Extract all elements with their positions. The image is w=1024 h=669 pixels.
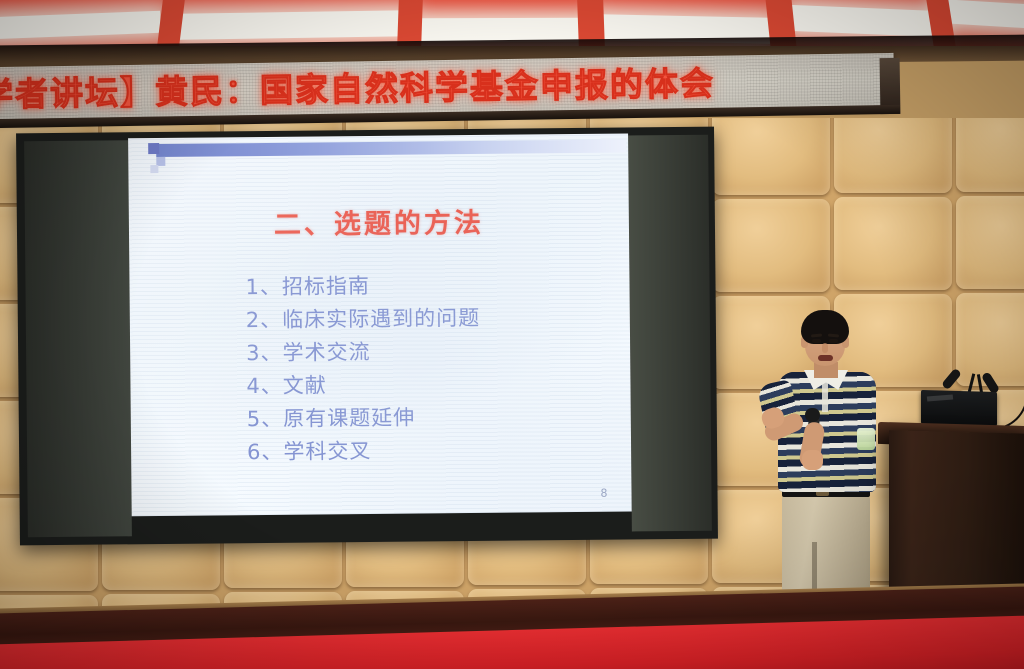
wall-acoustic-panel <box>956 293 1024 386</box>
screen-left-margin <box>24 140 132 537</box>
slide-bullet-item: 5、原有课题延伸 <box>247 400 627 437</box>
slide-decoration-square <box>150 165 158 173</box>
slide-bullet-item: 2、临床实际遇到的问题 <box>246 301 626 338</box>
slide-bullet-list: 1、招标指南2、临床实际遇到的问题3、学术交流4、文献5、原有课题延伸6、学科交… <box>245 268 627 470</box>
slide-bullet-item: 3、学术交流 <box>246 334 626 371</box>
wall-acoustic-panel <box>834 197 952 290</box>
screen-right-margin <box>628 135 712 532</box>
wall-acoustic-panel <box>834 118 952 193</box>
ceiling-beam <box>397 0 423 46</box>
speaker-hand-right <box>802 450 823 470</box>
speaker-badge <box>857 428 875 450</box>
handheld-microphone-head-icon <box>805 408 820 422</box>
ceiling-light-panel <box>940 0 1024 29</box>
laptop-icon <box>921 390 997 426</box>
wall-acoustic-panel <box>712 118 830 195</box>
ceiling-light-panel <box>0 11 160 40</box>
ceiling-light-panel <box>790 5 940 37</box>
speaker-nose <box>822 343 828 353</box>
wall-acoustic-panel <box>956 118 1024 192</box>
slide-bullet-item: 6、学科交叉 <box>247 433 627 470</box>
presentation-slide: 二、选题的方法 1、招标指南2、临床实际遇到的问题3、学术交流4、文献5、原有课… <box>128 133 632 516</box>
speaker-shirt-placket <box>822 382 828 412</box>
slide-bullet-item: 1、招标指南 <box>245 268 625 305</box>
wall-acoustic-panel <box>712 199 830 292</box>
ceiling-light-panel <box>178 10 408 40</box>
slide-page-number: 8 <box>600 487 607 500</box>
laptop-screen-glare <box>927 394 953 401</box>
lecture-hall-photo: 学者讲坛】黄民：国家自然科学基金申报的体会 二、选题的方法 1、招标指南2、临床… <box>0 0 1024 669</box>
slide-bullet-item: 4、文献 <box>246 367 626 404</box>
speaker-mouth <box>818 355 833 361</box>
slide-title: 二、选题的方法 <box>129 199 629 243</box>
speaker-hair <box>801 310 849 344</box>
slide-decoration-bar <box>156 140 626 158</box>
wall-acoustic-panel <box>956 196 1024 289</box>
slide-decoration-square <box>148 143 159 154</box>
speaker-eye-right <box>829 339 838 343</box>
projection-screen: 二、选题的方法 1、招标指南2、临床实际遇到的问题3、学术交流4、文献5、原有课… <box>16 127 718 546</box>
speaker-eye-left <box>812 339 821 343</box>
